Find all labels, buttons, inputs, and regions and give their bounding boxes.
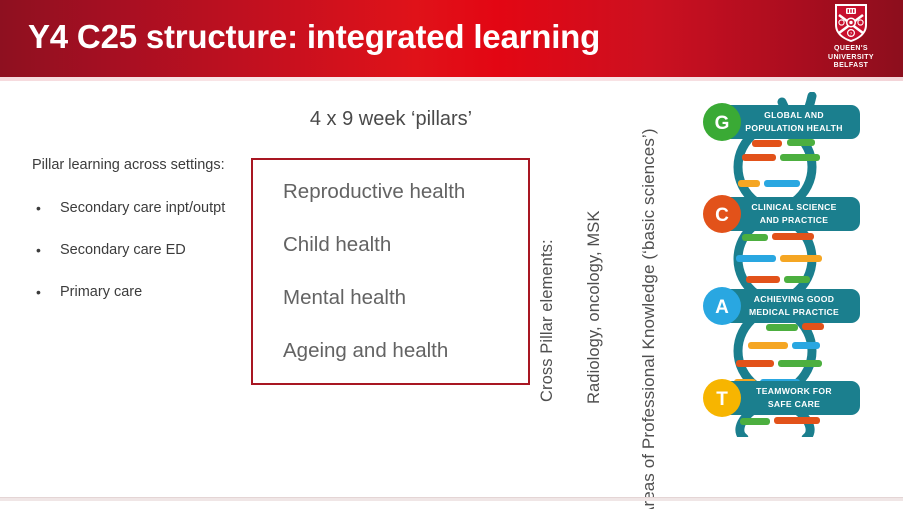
vertical-label-radiology-oncology-msk: Radiology, oncology, MSK: [585, 211, 604, 404]
pillars-box: Reproductive health Child health Mental …: [251, 158, 530, 385]
header-underline: [0, 77, 903, 81]
dna-node-global-and-population-health: G GLOBAL AND POPULATION HEALTH: [703, 103, 860, 141]
slide-canvas: Y4 C25 structure: integrated learning ? …: [0, 0, 903, 509]
vertical-label-cross-pillar-elements: Cross Pillar elements:: [538, 239, 557, 402]
logo-wordmark: QUEEN'S UNIVERSITY BELFAST: [828, 45, 874, 71]
pillar-learning-lead: Pillar learning across settings:: [32, 155, 232, 176]
dna-node-label-line2: SAFE CARE: [768, 399, 820, 409]
dna-badge-letter-t: T: [716, 389, 728, 410]
bullet-glyph: •: [36, 198, 41, 218]
dna-node-achieving-good-medical-practice: A ACHIEVING GOOD MEDICAL PRACTICE: [703, 287, 860, 325]
dna-badge-letter-g: G: [715, 113, 730, 134]
slide-bottom-rule: [0, 497, 903, 501]
pillar-item-reproductive-health: Reproductive health: [253, 179, 528, 205]
dna-node-label-line2: MEDICAL PRACTICE: [749, 307, 839, 317]
bullet-glyph: •: [36, 282, 41, 302]
list-item: • Secondary care ED: [32, 240, 232, 260]
dna-node-label-line1: ACHIEVING GOOD: [754, 294, 835, 304]
dna-helix-graphic: G GLOBAL AND POPULATION HEALTH C CLINICA…: [690, 92, 890, 437]
pillar-learning-settings-block: Pillar learning across settings: • Secon…: [32, 155, 232, 324]
dna-node-label-line1: TEAMWORK FOR: [756, 386, 832, 396]
logo-wordmark-line3: BELFAST: [828, 62, 874, 71]
logo-wordmark-line2: UNIVERSITY: [828, 54, 874, 63]
list-item: • Secondary care inpt/outpt: [32, 198, 232, 218]
dna-helix-svg: G GLOBAL AND POPULATION HEALTH C CLINICA…: [690, 92, 890, 437]
pillar-item-ageing-and-health: Ageing and health: [253, 338, 528, 364]
vertical-label-areas-of-professional-knowledge: Areas of Professional Knowledge (‘basic …: [639, 128, 659, 509]
dna-node-clinical-science-and-practice: C CLINICAL SCIENCE AND PRACTICE: [703, 195, 860, 233]
dna-badge-letter-c: C: [715, 205, 729, 226]
list-item-label: Primary care: [60, 284, 142, 300]
dna-node-label-line2: AND PRACTICE: [760, 215, 829, 225]
dna-node-label-line1: GLOBAL AND: [764, 110, 824, 120]
queens-university-belfast-logo: ? QUEEN'S UNIVERSITY BELFAST: [815, 3, 887, 73]
pillar-item-mental-health: Mental health: [253, 285, 528, 311]
pillar-item-child-health: Child health: [253, 232, 528, 258]
list-item-label: Secondary care ED: [60, 242, 186, 258]
qub-crest-icon: ?: [833, 3, 869, 43]
settings-list: • Secondary care inpt/outpt • Secondary …: [32, 198, 232, 302]
bullet-glyph: •: [36, 240, 41, 260]
dna-node-label-line1: CLINICAL SCIENCE: [751, 202, 836, 212]
list-item: • Primary care: [32, 282, 232, 302]
pillars-heading: 4 x 9 week ‘pillars’: [251, 108, 531, 131]
list-item-label: Secondary care inpt/outpt: [60, 200, 225, 216]
dna-badge-letter-a: A: [715, 297, 729, 318]
page-title: Y4 C25 structure: integrated learning: [28, 8, 788, 66]
dna-node-label-line2: POPULATION HEALTH: [745, 123, 842, 133]
logo-wordmark-line1: QUEEN'S: [828, 45, 874, 54]
dna-node-teamwork-for-safe-care: T TEAMWORK FOR SAFE CARE: [703, 379, 860, 417]
